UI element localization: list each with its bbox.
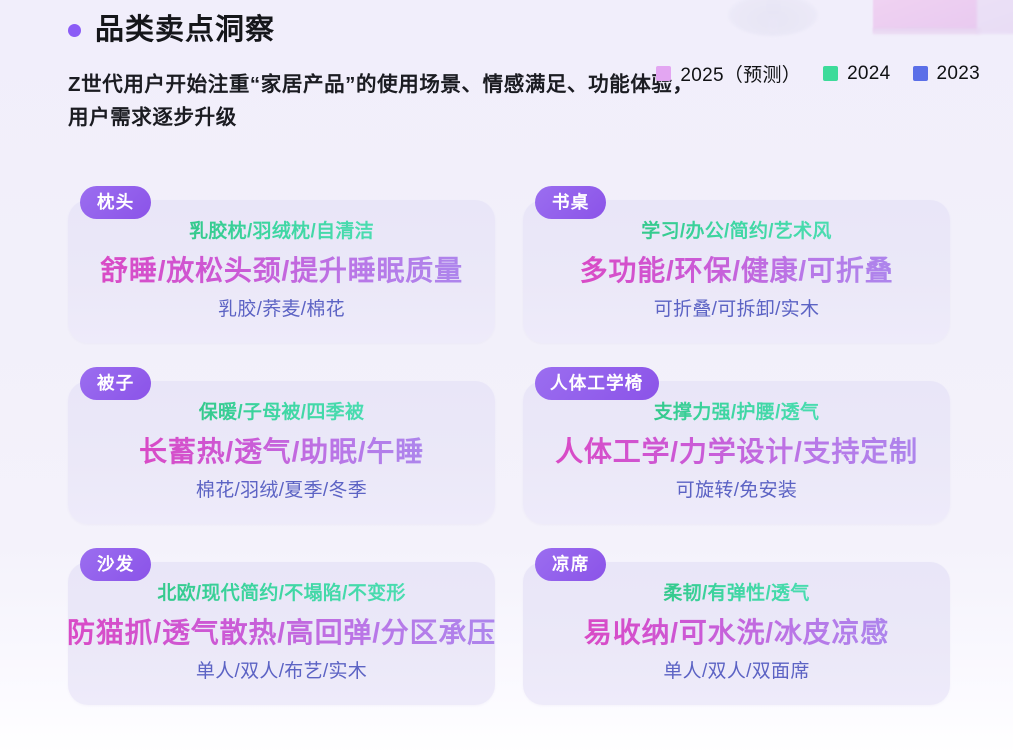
category-badge[interactable]: 枕头 xyxy=(80,186,151,219)
category-badge[interactable]: 沙发 xyxy=(80,548,151,581)
subtitle-line-2: 用户需求逐步升级 xyxy=(68,101,968,134)
page-title: 品类卖点洞察 xyxy=(95,16,275,45)
category-card-grid: 枕头 乳胶枕/羽绒枕/自清洁 舒睡/放松头颈/提升睡眠质量 乳胶/荞麦/棉花 书… xyxy=(68,186,950,705)
legend-swatch-icon-2023 xyxy=(913,66,928,81)
slide-root: 品类卖点洞察 Z世代用户开始注重“家居产品”的使用场景、情感满足、功能体验， 用… xyxy=(0,0,1013,754)
legend-item-2023[interactable]: 2023 xyxy=(913,63,980,85)
selling-point-2023: 可旋转/免安装 xyxy=(676,476,797,506)
selling-point-2024: 乳胶枕/羽绒枕/自清洁 xyxy=(189,217,374,247)
legend-item-2025[interactable]: 2025（预测） xyxy=(656,60,801,87)
card-body: 柔韧/有弹性/透气 易收纳/可水洗/冰皮凉感 单人/双人/双面席 xyxy=(523,562,950,705)
selling-point-2024: 学习/办公/简约/艺术风 xyxy=(641,217,831,247)
card-body: 北欧/现代简约/不塌陷/不变形 防猫抓/透气散热/高回弹/分区承压 单人/双人/… xyxy=(68,562,495,705)
selling-point-2025: 长蓄热/透气/助眠/午睡 xyxy=(139,430,424,474)
secondary-panel-shape xyxy=(976,0,1013,34)
category-badge[interactable]: 被子 xyxy=(80,367,151,400)
legend-label-2024: 2024 xyxy=(847,63,890,85)
legend: 2025（预测） 2024 2023 xyxy=(656,60,980,87)
selling-point-2023: 单人/双人/双面席 xyxy=(663,657,809,687)
card-body: 保暖/子母被/四季被 长蓄热/透气/助眠/午睡 棉花/羽绒/夏季/冬季 xyxy=(68,381,495,524)
selling-point-2024: 保暖/子母被/四季被 xyxy=(199,398,365,428)
category-card-quilt[interactable]: 被子 保暖/子母被/四季被 长蓄热/透气/助眠/午睡 棉花/羽绒/夏季/冬季 xyxy=(68,367,495,524)
card-body: 学习/办公/简约/艺术风 多功能/环保/健康/可折叠 可折叠/可拆卸/实木 xyxy=(523,200,950,343)
category-badge[interactable]: 书桌 xyxy=(535,186,606,219)
category-badge[interactable]: 人体工学椅 xyxy=(535,367,659,400)
selling-point-2025: 易收纳/可水洗/冰皮凉感 xyxy=(584,611,889,655)
legend-label-2025: 2025（预测） xyxy=(680,60,801,87)
legend-item-2024[interactable]: 2024 xyxy=(823,63,890,85)
selling-point-2025: 人体工学/力学设计/支持定制 xyxy=(555,430,918,474)
dot-icon xyxy=(68,24,81,37)
category-card-desk[interactable]: 书桌 学习/办公/简约/艺术风 多功能/环保/健康/可折叠 可折叠/可拆卸/实木 xyxy=(523,186,950,343)
card-body: 乳胶枕/羽绒枕/自清洁 舒睡/放松头颈/提升睡眠质量 乳胶/荞麦/棉花 xyxy=(68,200,495,343)
title-row: 品类卖点洞察 xyxy=(68,8,968,52)
selling-point-2023: 可折叠/可拆卸/实木 xyxy=(654,295,820,325)
selling-point-2024: 北欧/现代简约/不塌陷/不变形 xyxy=(157,579,405,609)
selling-point-2025: 多功能/环保/健康/可折叠 xyxy=(580,249,894,293)
selling-point-2023: 乳胶/荞麦/棉花 xyxy=(218,295,345,325)
category-card-pillow[interactable]: 枕头 乳胶枕/羽绒枕/自清洁 舒睡/放松头颈/提升睡眠质量 乳胶/荞麦/棉花 xyxy=(68,186,495,343)
selling-point-2025: 防猫抓/透气散热/高回弹/分区承压 xyxy=(67,611,496,655)
selling-point-2023: 单人/双人/布艺/实木 xyxy=(196,657,367,687)
selling-point-2024: 支撑力强/护腰/透气 xyxy=(654,398,820,428)
legend-label-2023: 2023 xyxy=(937,63,980,85)
legend-swatch-icon-2025 xyxy=(656,66,671,81)
category-card-sofa[interactable]: 沙发 北欧/现代简约/不塌陷/不变形 防猫抓/透气散热/高回弹/分区承压 单人/… xyxy=(68,548,495,705)
card-body: 支撑力强/护腰/透气 人体工学/力学设计/支持定制 可旋转/免安装 xyxy=(523,381,950,524)
category-card-ergonomic-chair[interactable]: 人体工学椅 支撑力强/护腰/透气 人体工学/力学设计/支持定制 可旋转/免安装 xyxy=(523,367,950,524)
legend-swatch-icon-2024 xyxy=(823,66,838,81)
selling-point-2025: 舒睡/放松头颈/提升睡眠质量 xyxy=(100,249,463,293)
selling-point-2024: 柔韧/有弹性/透气 xyxy=(663,579,809,609)
selling-point-2023: 棉花/羽绒/夏季/冬季 xyxy=(196,476,367,506)
category-badge[interactable]: 凉席 xyxy=(535,548,606,581)
category-card-mat[interactable]: 凉席 柔韧/有弹性/透气 易收纳/可水洗/冰皮凉感 单人/双人/双面席 xyxy=(523,548,950,705)
